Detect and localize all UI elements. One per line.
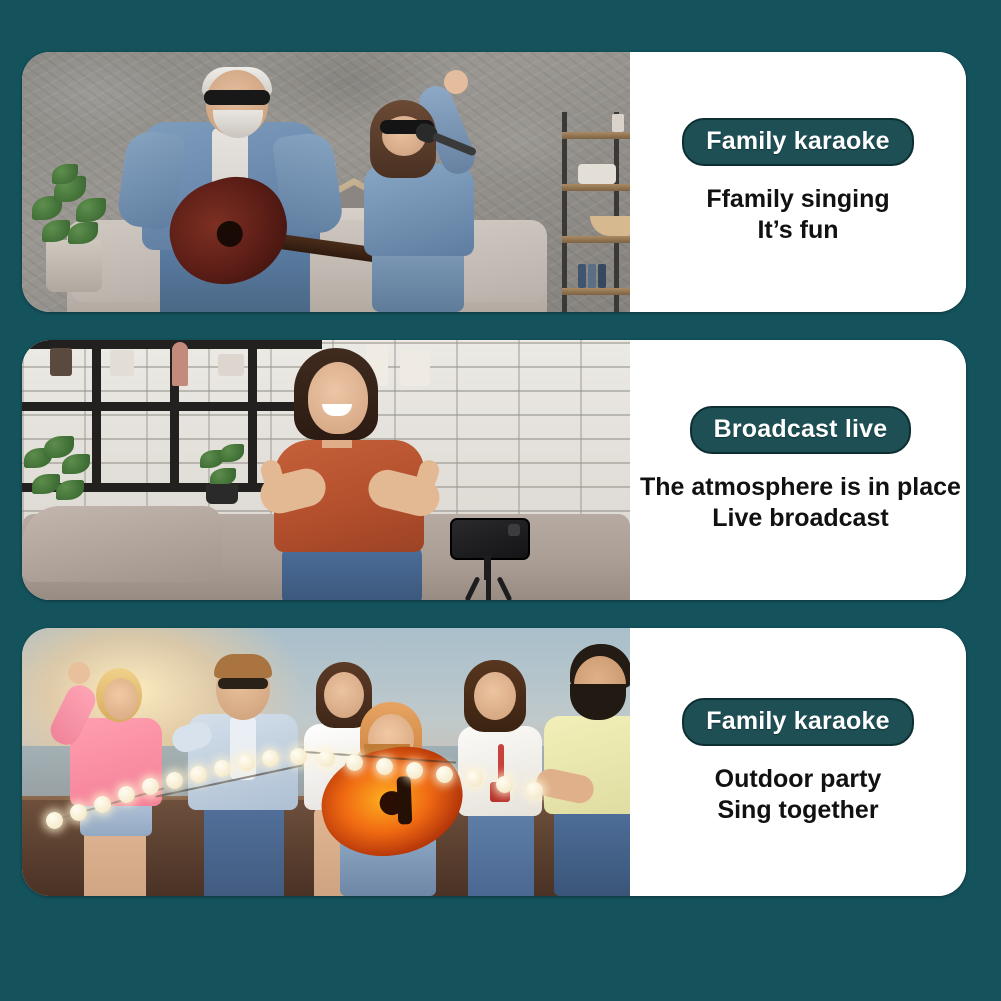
card-caption: Outdoor party Sing together: [715, 764, 882, 827]
shelving-unit: [562, 112, 630, 312]
person-grandfather-guitarist: [118, 70, 348, 312]
shelf-object: [110, 350, 134, 376]
shelf-object: [50, 348, 72, 376]
string-lights: [46, 720, 606, 830]
caption-line-1: Ffamily singing: [706, 185, 889, 213]
eyeglasses-icon: [218, 678, 268, 689]
feature-card-family-karaoke-indoor[interactable]: Family karaoke Ffamily singing It’s fun: [22, 52, 966, 312]
potted-plant: [194, 444, 254, 506]
card-photo-broadcast-live: [22, 340, 630, 600]
camera-lens-icon: [508, 524, 520, 536]
potted-plant: [28, 162, 114, 292]
beard: [570, 684, 626, 720]
caption-line-1: The atmosphere is in place: [640, 473, 961, 501]
promo-board: Family karaoke Ffamily singing It’s fun: [0, 0, 1001, 1001]
card-photo-family-karaoke-indoor: [22, 52, 630, 312]
caption-line-2: Live broadcast: [640, 503, 961, 534]
card-caption: Ffamily singing It’s fun: [706, 184, 889, 247]
feature-card-family-karaoke-outdoor[interactable]: Family karaoke Outdoor party Sing togeth…: [22, 628, 966, 896]
card-text-pane: Family karaoke Outdoor party Sing togeth…: [630, 628, 966, 896]
card-badge: Family karaoke: [682, 118, 913, 166]
card-photo-family-karaoke-outdoor: [22, 628, 630, 896]
sofa-cushion: [22, 506, 222, 582]
card-text-pane: Broadcast live The atmosphere is in plac…: [630, 340, 966, 600]
caption-line-2: It’s fun: [706, 215, 889, 246]
person-girl-singer: [352, 68, 522, 312]
potted-plant: [22, 436, 94, 516]
caption-line-1: Outdoor party: [715, 765, 882, 793]
card-caption: The atmosphere is in place Live broadcas…: [640, 472, 961, 535]
feature-card-broadcast-live[interactable]: Broadcast live The atmosphere is in plac…: [22, 340, 966, 600]
shelf-object: [172, 342, 188, 386]
phone-on-tripod: [440, 518, 536, 600]
shelf-object: [218, 354, 244, 376]
sunglasses-icon: [204, 90, 270, 105]
caption-line-2: Sing together: [715, 795, 882, 826]
card-text-pane: Family karaoke Ffamily singing It’s fun: [630, 52, 966, 312]
card-badge: Family karaoke: [682, 698, 913, 746]
card-badge: Broadcast live: [690, 406, 912, 454]
